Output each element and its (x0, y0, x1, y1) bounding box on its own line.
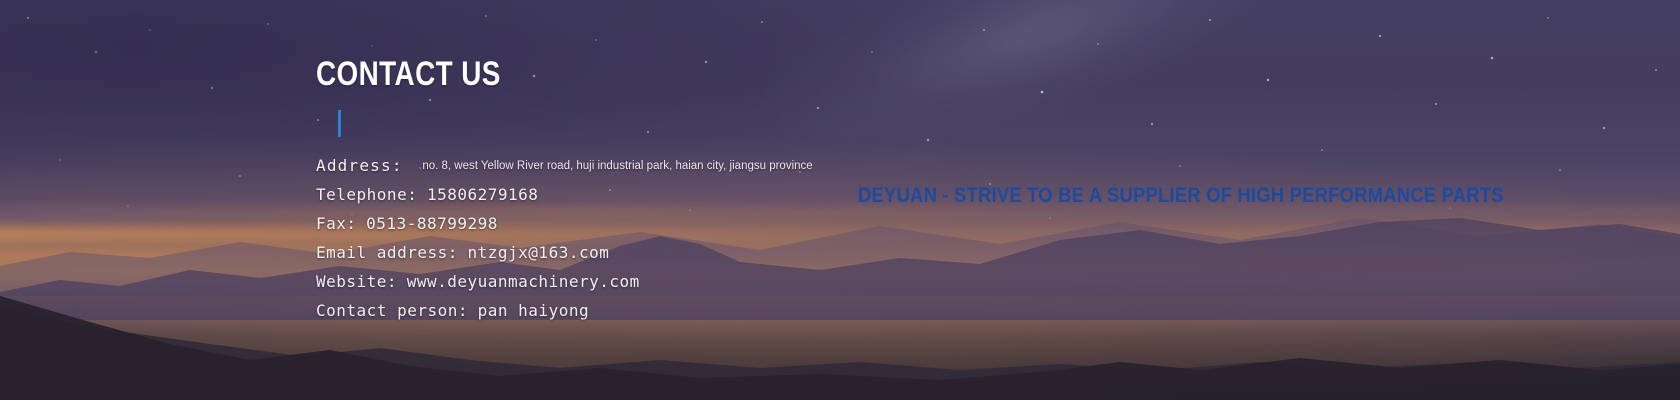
email-value[interactable]: ntzgjx@163.com (468, 243, 610, 262)
address-label: Address: (316, 156, 403, 175)
contact-row-address: Address: no. 8, west Yellow River road, … (316, 151, 1096, 180)
contact-row-website: Website: www.deyuanmachinery.com (316, 267, 1096, 296)
website-value[interactable]: www.deyuanmachinery.com (407, 272, 640, 291)
fax-value: 0513-88799298 (366, 214, 498, 233)
contact-person-label: Contact person: (316, 301, 468, 320)
email-label: Email address: (316, 243, 458, 262)
address-value: no. 8, west Yellow River road, huji indu… (412, 160, 812, 172)
fax-label: Fax: (316, 214, 357, 233)
page-title: CONTACT US (316, 56, 956, 92)
banner-content: CONTACT US Address: no. 8, west Yellow R… (0, 0, 1680, 400)
company-tagline: DEYUAN - STRIVE TO BE A SUPPLIER OF HIGH… (858, 184, 1504, 208)
contact-person-value: pan haiyong (478, 301, 589, 320)
contact-details-list: Address: no. 8, west Yellow River road, … (316, 151, 1096, 325)
telephone-value[interactable]: 15806279168 (427, 185, 538, 204)
contact-row-person: Contact person: pan haiyong (316, 296, 1096, 325)
title-accent-bar (338, 110, 341, 137)
contact-footer-banner: CONTACT US Address: no. 8, west Yellow R… (0, 0, 1680, 400)
contact-row-email: Email address: ntzgjx@163.com (316, 238, 1096, 267)
telephone-label: Telephone: (316, 185, 417, 204)
website-label: Website: (316, 272, 397, 291)
contact-row-fax: Fax: 0513-88799298 (316, 209, 1096, 238)
